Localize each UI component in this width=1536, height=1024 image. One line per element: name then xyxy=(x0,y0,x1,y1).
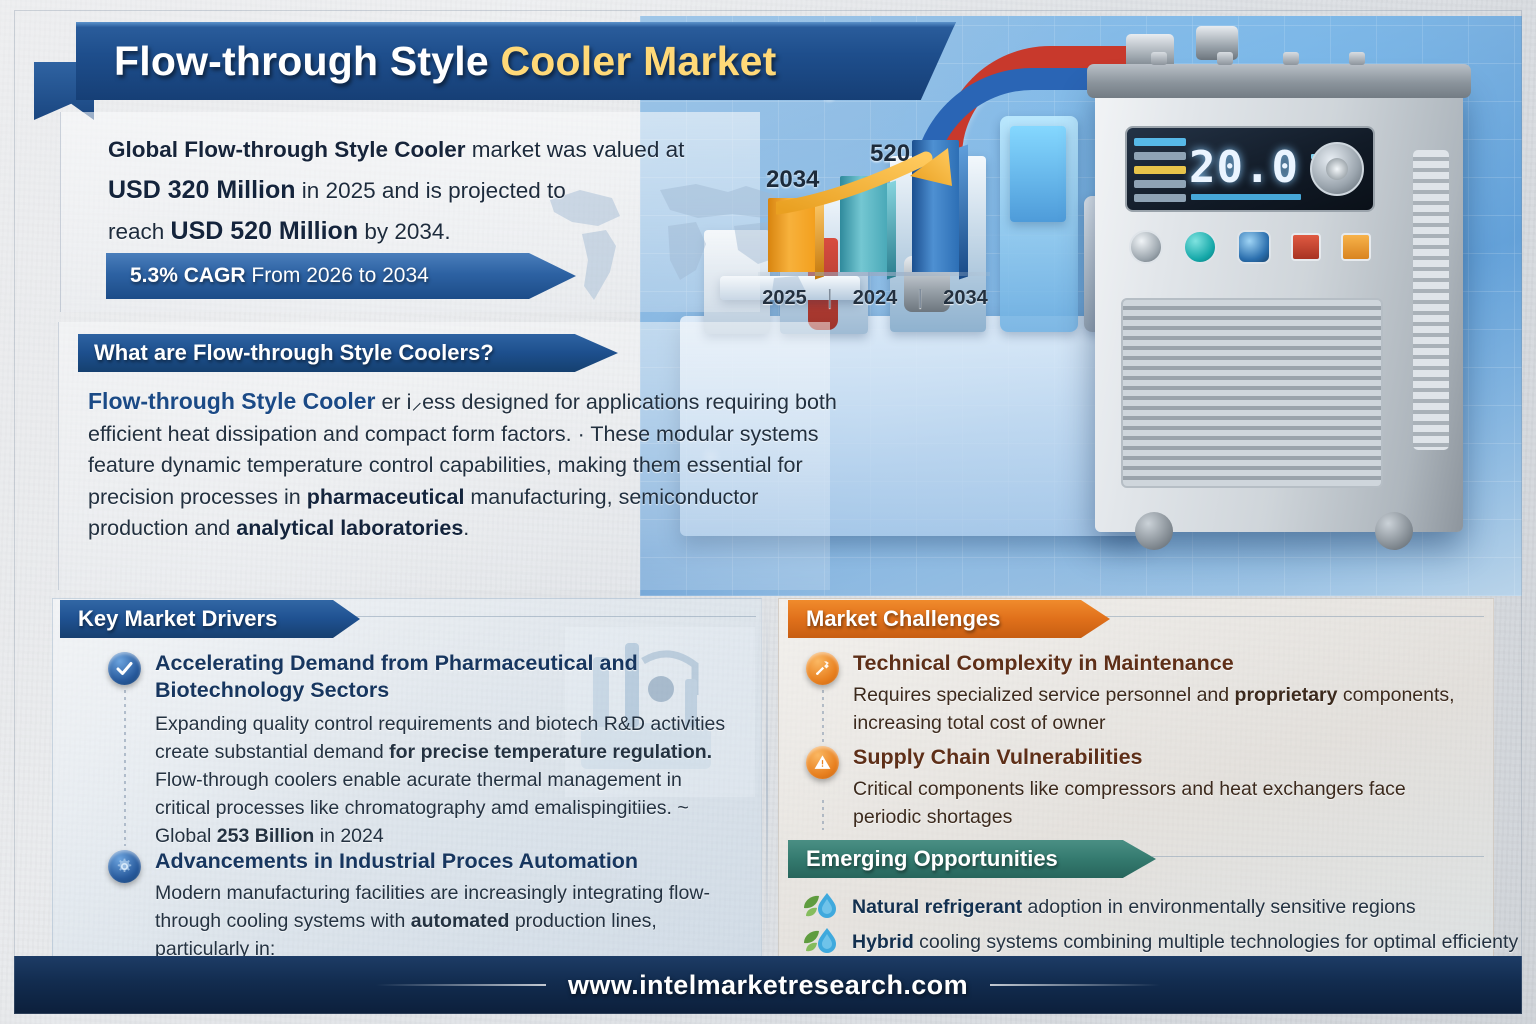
outer-frame xyxy=(14,10,1522,1014)
infographic-canvas: 20.0 Flow-through Style Cooler Market xyxy=(0,0,1536,1024)
